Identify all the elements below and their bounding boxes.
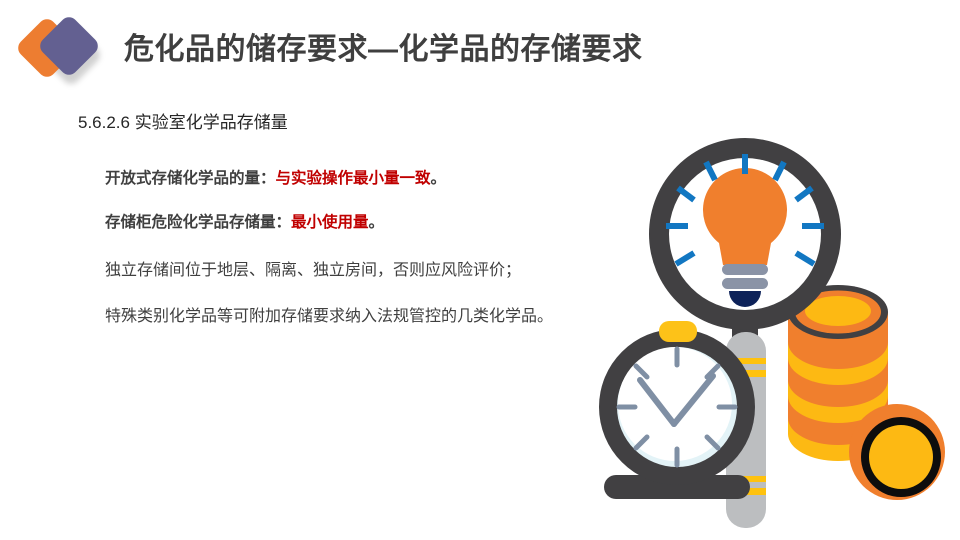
coin-icon	[849, 404, 945, 500]
slide-canvas: 危化品的储存要求—化学品的存储要求 5.6.2.6 实验室化学品存储量 开放式存…	[0, 0, 960, 540]
section-number-heading: 5.6.2.6 实验室化学品存储量	[78, 108, 288, 133]
page-title: 危化品的储存要求—化学品的存储要求	[124, 24, 643, 68]
open-storage-tail: 。	[431, 170, 447, 187]
open-storage-highlight: 与实验操作最小量一致	[276, 170, 431, 187]
cabinet-storage-label: 存储柜危险化学品存储量：	[105, 214, 291, 231]
illustration-magnifier-lightbulb-clock-coins	[556, 136, 956, 532]
title-decoration	[18, 18, 114, 80]
cabinet-storage-highlight: 最小使用量	[291, 214, 369, 231]
slide-title-bar: 危化品的储存要求—化学品的存储要求	[0, 8, 960, 80]
open-storage-label: 开放式存储化学品的量：	[105, 170, 276, 187]
cabinet-storage-tail: 。	[369, 214, 385, 231]
